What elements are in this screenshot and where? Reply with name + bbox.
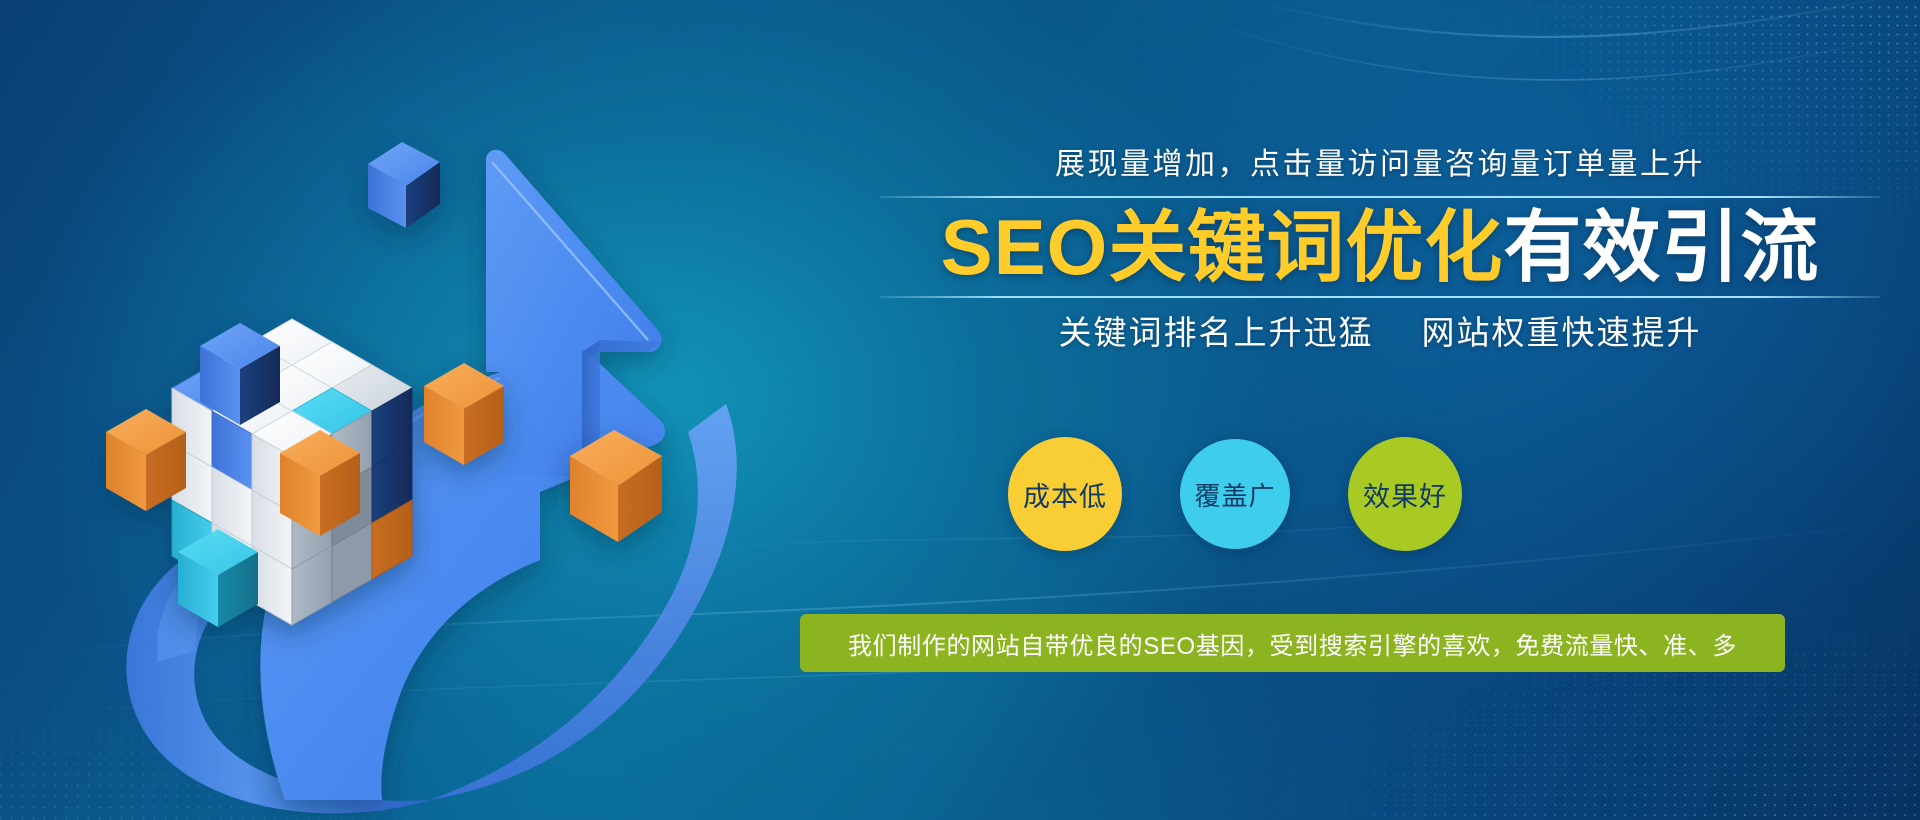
badge-label: 效果好: [1363, 475, 1447, 514]
headline-rest: 有效引流: [1503, 203, 1819, 291]
headline-block: 展现量增加，点击量访问量咨询量订单量上升 SEO关键词优化有效引流 关键词排名上…: [880, 150, 1880, 349]
subline-right: 网站权重快速提升: [1422, 314, 1702, 351]
subline-text: 关键词排名上升迅猛网站权重快速提升: [880, 316, 1880, 349]
hero-graphic: [0, 0, 860, 820]
page-title: SEO关键词优化有效引流: [880, 208, 1880, 286]
divider-top: [880, 196, 1880, 198]
headline-highlight: SEO关键词优化: [941, 203, 1504, 291]
growth-arrow-and-cube-illustration: [0, 0, 860, 820]
footer-note-bar: 我们制作的网站自带优良的SEO基因，受到搜索引擎的喜欢，免费流量快、准、多: [800, 614, 1785, 672]
badge-row: 成本低 覆盖广 效果好: [1008, 437, 1462, 551]
divider-bottom: [880, 296, 1880, 298]
floating-blue-cube-icon: [368, 142, 440, 228]
subline-left: 关键词排名上升迅猛: [1059, 314, 1374, 351]
badge-label: 成本低: [1023, 475, 1107, 514]
footer-note-text: 我们制作的网站自带优良的SEO基因，受到搜索引擎的喜欢，免费流量快、准、多: [848, 626, 1737, 661]
badge-coverage-wide[interactable]: 覆盖广: [1180, 439, 1290, 549]
badge-label: 覆盖广: [1194, 476, 1275, 513]
seo-promo-banner: 展现量增加，点击量访问量咨询量订单量上升 SEO关键词优化有效引流 关键词排名上…: [0, 0, 1920, 820]
badge-cost-low[interactable]: 成本低: [1008, 437, 1122, 551]
badge-effect-good[interactable]: 效果好: [1348, 437, 1462, 551]
eyebrow-text: 展现量增加，点击量访问量咨询量订单量上升: [880, 150, 1880, 180]
